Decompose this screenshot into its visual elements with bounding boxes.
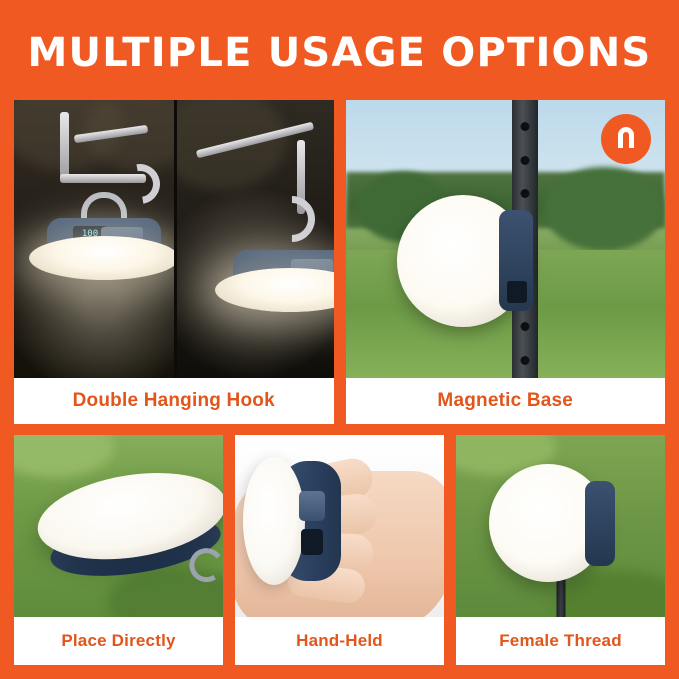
lantern-buttons (299, 491, 325, 521)
photo-place-directly (14, 435, 223, 617)
caption-double-hanging-hook: Double Hanging Hook (14, 378, 334, 424)
dark-night-scene: 100 (14, 100, 334, 378)
photo-double-hanging-hook: 100 (14, 100, 334, 378)
hook-curve-large (259, 186, 324, 251)
scene-right-hook (174, 100, 334, 378)
photo-hand-held (235, 435, 444, 617)
lantern-display (507, 281, 527, 303)
lantern-shade (29, 236, 174, 280)
tripod-scene (456, 435, 665, 617)
lantern-face (243, 457, 305, 585)
card-double-hanging-hook[interactable]: 100 (14, 100, 334, 424)
caption-place-directly: Place Directly (14, 617, 223, 665)
bottom-card-row: Place Directly Ha (0, 435, 679, 665)
outdoor-field-scene (346, 100, 666, 378)
product-infographic: MULTIPLE USAGE OPTIONS (0, 0, 679, 679)
photo-magnetic-base (346, 100, 666, 378)
lantern-shade (215, 268, 334, 312)
lantern-rim (585, 481, 615, 566)
caption-hand-held: Hand-Held (235, 617, 444, 665)
scene-left-hook: 100 (14, 100, 174, 378)
page-title: MULTIPLE USAGE OPTIONS (28, 30, 652, 76)
card-hand-held[interactable]: Hand-Held (235, 435, 444, 665)
top-card-row: 100 (0, 100, 679, 424)
grass-scene (14, 435, 223, 617)
hand-scene (235, 435, 444, 617)
hook-vertical-rod (60, 112, 69, 182)
lantern-hanging-left: 100 (29, 218, 174, 276)
lantern-buttons (505, 226, 529, 260)
caption-female-thread: Female Thread (456, 617, 665, 665)
magnet-icon (611, 124, 641, 154)
caption-magnetic-base: Magnetic Base (346, 378, 666, 424)
lantern-display (301, 529, 323, 555)
header-banner: MULTIPLE USAGE OPTIONS (0, 0, 679, 100)
lantern-hanging-right (215, 250, 334, 308)
magnet-badge (601, 114, 651, 164)
lantern-magnetic (397, 195, 529, 327)
card-female-thread[interactable]: Female Thread (456, 435, 665, 665)
card-place-directly[interactable]: Place Directly (14, 435, 223, 665)
card-magnetic-base[interactable]: Magnetic Base (346, 100, 666, 424)
photo-female-thread (456, 435, 665, 617)
lantern-handheld (243, 457, 347, 585)
lantern-threaded (489, 464, 607, 582)
